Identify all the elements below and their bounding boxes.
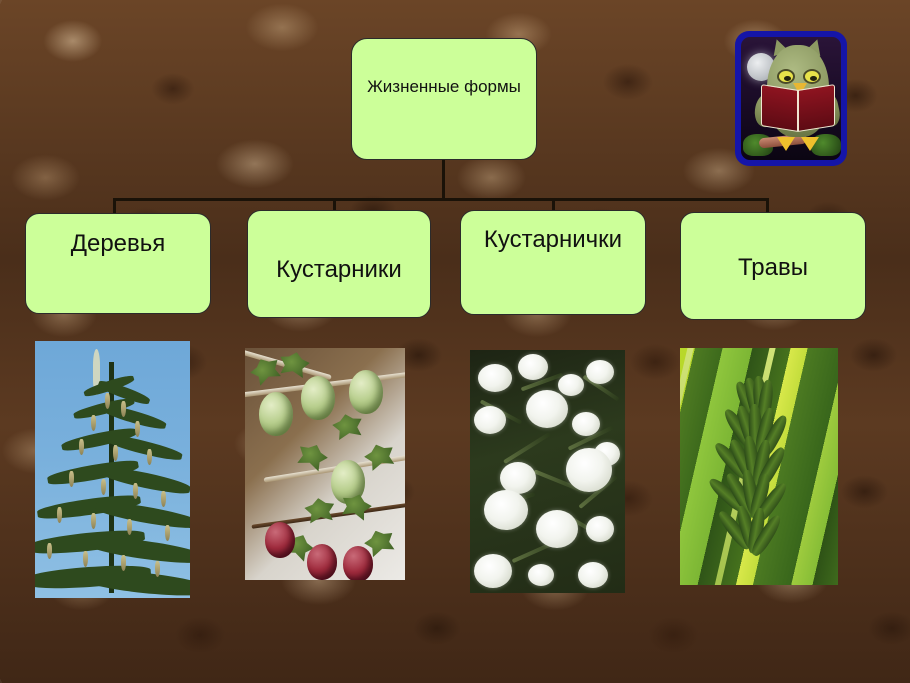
book-page-left bbox=[761, 84, 798, 132]
node-shrubs[interactable]: Кустарники bbox=[247, 210, 431, 318]
connector-horizontal bbox=[113, 198, 769, 201]
connector-root-stem bbox=[442, 160, 445, 200]
ledum-scene bbox=[470, 350, 625, 593]
spruce-sky bbox=[35, 341, 190, 598]
slide-canvas: Жизненные формы Деревья Кустарники Куста… bbox=[0, 0, 910, 683]
node-shrubs-label: Кустарники bbox=[276, 258, 402, 282]
node-trees[interactable]: Деревья bbox=[25, 213, 211, 314]
owl-foot-right bbox=[801, 137, 819, 151]
red-book-icon bbox=[761, 87, 835, 129]
owl-reading-book-icon bbox=[735, 31, 847, 166]
gooseberry-scene bbox=[245, 348, 405, 580]
photo-banana-plant bbox=[680, 348, 838, 585]
node-herbs-label: Травы bbox=[738, 256, 808, 280]
photo-spruce-tree bbox=[35, 341, 190, 598]
node-root-label: Жизненные формы bbox=[367, 75, 521, 100]
node-dwarf-shrubs-label: Кустарнички bbox=[484, 228, 622, 252]
photo-gooseberry-shrub bbox=[245, 348, 405, 580]
owl-eye-left bbox=[777, 69, 795, 84]
node-herbs[interactable]: Травы bbox=[680, 212, 866, 320]
owl-scene bbox=[741, 37, 841, 160]
owl-eye-right bbox=[803, 69, 821, 84]
node-trees-label: Деревья bbox=[71, 232, 166, 256]
book-page-right bbox=[798, 84, 835, 132]
node-dwarf-shrubs[interactable]: Кустарнички bbox=[460, 210, 646, 315]
node-root[interactable]: Жизненные формы bbox=[351, 38, 537, 160]
banana-scene bbox=[680, 348, 838, 585]
owl-foot-left bbox=[777, 137, 795, 151]
connector-drop-1 bbox=[113, 198, 116, 214]
photo-ledum-flowers bbox=[470, 350, 625, 593]
